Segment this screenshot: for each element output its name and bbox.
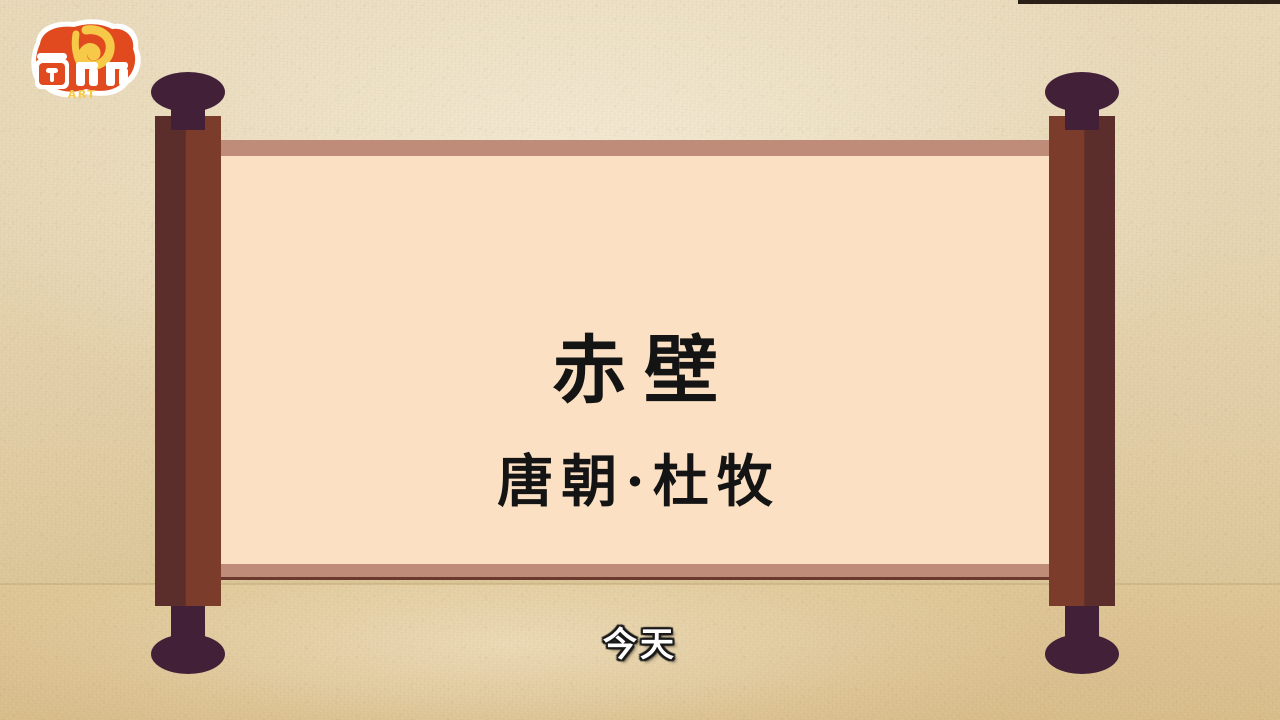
top-edge-strip [1018,0,1280,4]
scroll-band-top [220,140,1050,156]
subtitle-caption: 今天 [0,628,1280,662]
scroll-knob-cap-top-left [151,72,225,112]
poem-title: 赤壁 [220,334,1050,408]
scroll-knob-cap-top-right [1045,72,1119,112]
logo-sub-text: ART [68,88,97,101]
hanging-scroll: 赤壁 唐朝·杜牧 [155,72,1115,648]
brand-logo[interactable]: ART [16,12,148,104]
poem-author-line: 唐朝·杜牧 [220,454,1050,510]
scroll-rod-right [1049,116,1115,606]
scroll-band-bottom-edge [220,577,1050,580]
scroll-rod-left [155,116,221,606]
video-frame: ART 赤壁 唐朝·杜牧 今天 [0,0,1280,720]
